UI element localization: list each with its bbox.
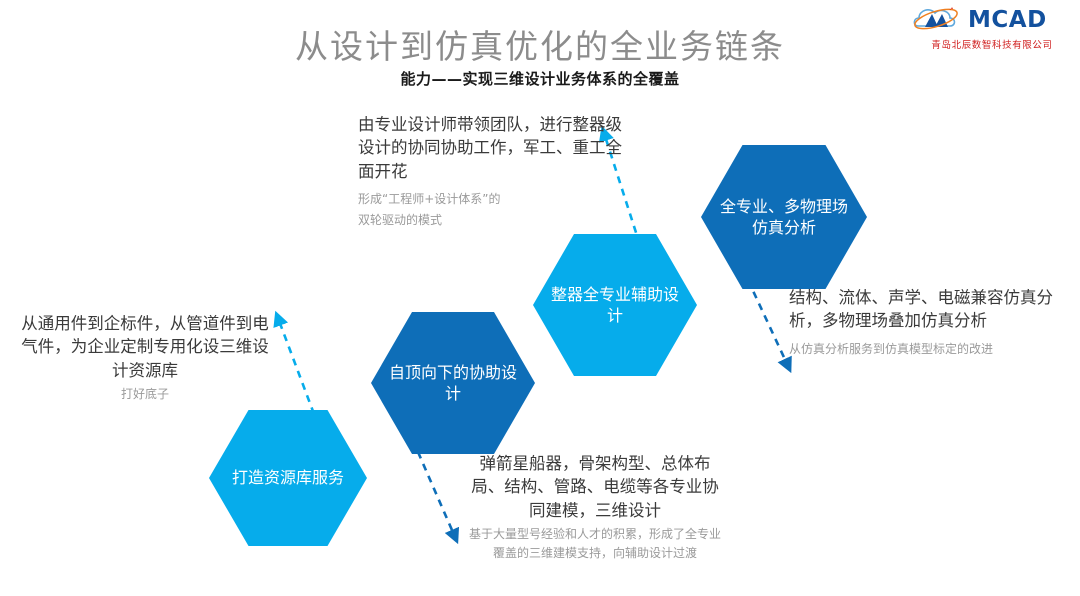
hex-multiphysics-simulation[interactable]: 全专业、多物理场仿真分析 [701,145,867,289]
slide-canvas: MCAD 青岛北辰数智科技有限公司 从设计到仿真优化的全业务链条 能力——实现三… [0,0,1080,596]
hex-resource-library-label: 打造资源库服务 [218,467,358,488]
arrow-to-simulation-callout [748,280,788,366]
callout-simulation: 结构、流体、声学、电磁兼容仿真分析，多物理场叠加仿真分析 从仿真分析服务到仿真模… [789,286,1057,360]
callout-resource-library: 从通用件到企标件，从管道件到电气件，为企业定制专用化设三维设计资源库 打好底子 [14,312,276,405]
hex-full-assembly-design-label: 整器全专业辅助设计 [533,284,697,326]
arrow-to-topdown-callout [418,452,455,537]
page-title: 从设计到仿真优化的全业务链条 [0,20,1080,68]
callout-full-assembly-design: 由专业设计师带领团队，进行整器级设计的协同协助工作，军工、重工全面开花 形成“工… [358,113,624,231]
hex-top-down-design[interactable]: 自顶向下的协助设计 [371,312,535,454]
callout-top-down-design: 弹箭星船器，骨架构型、总体布局、结构、管路、电缆等各专业协同建模，三维设计 基于… [464,452,726,564]
callout-resource-library-note: 打好底子 [14,384,276,405]
hex-resource-library[interactable]: 打造资源库服务 [209,410,367,546]
callout-full-assembly-design-lead: 由专业设计师带领团队，进行整器级设计的协同协助工作，军工、重工全面开花 [358,113,624,183]
callout-top-down-design-note: 基于大量型号经验和人才的积累，形成了全专业覆盖的三维建模支持，向辅助设计过渡 [464,525,726,563]
callout-full-assembly-design-note: 形成“工程师+设计体系”的 双轮驱动的模式 [358,189,624,231]
hex-full-assembly-design[interactable]: 整器全专业辅助设计 [533,234,697,376]
callout-simulation-lead: 结构、流体、声学、电磁兼容仿真分析，多物理场叠加仿真分析 [789,286,1057,333]
page-subtitle: 能力——实现三维设计业务体系的全覆盖 [0,68,1080,89]
arrow-to-resource-callout [278,318,314,414]
callout-top-down-design-lead: 弹箭星船器，骨架构型、总体布局、结构、管路、电缆等各专业协同建模，三维设计 [464,452,726,522]
callout-simulation-note: 从仿真分析服务到仿真模型标定的改进 [789,339,1057,360]
callout-resource-library-lead: 从通用件到企标件，从管道件到电气件，为企业定制专用化设三维设计资源库 [14,312,276,382]
hex-top-down-design-label: 自顶向下的协助设计 [371,362,535,404]
hex-multiphysics-simulation-label: 全专业、多物理场仿真分析 [701,196,867,238]
